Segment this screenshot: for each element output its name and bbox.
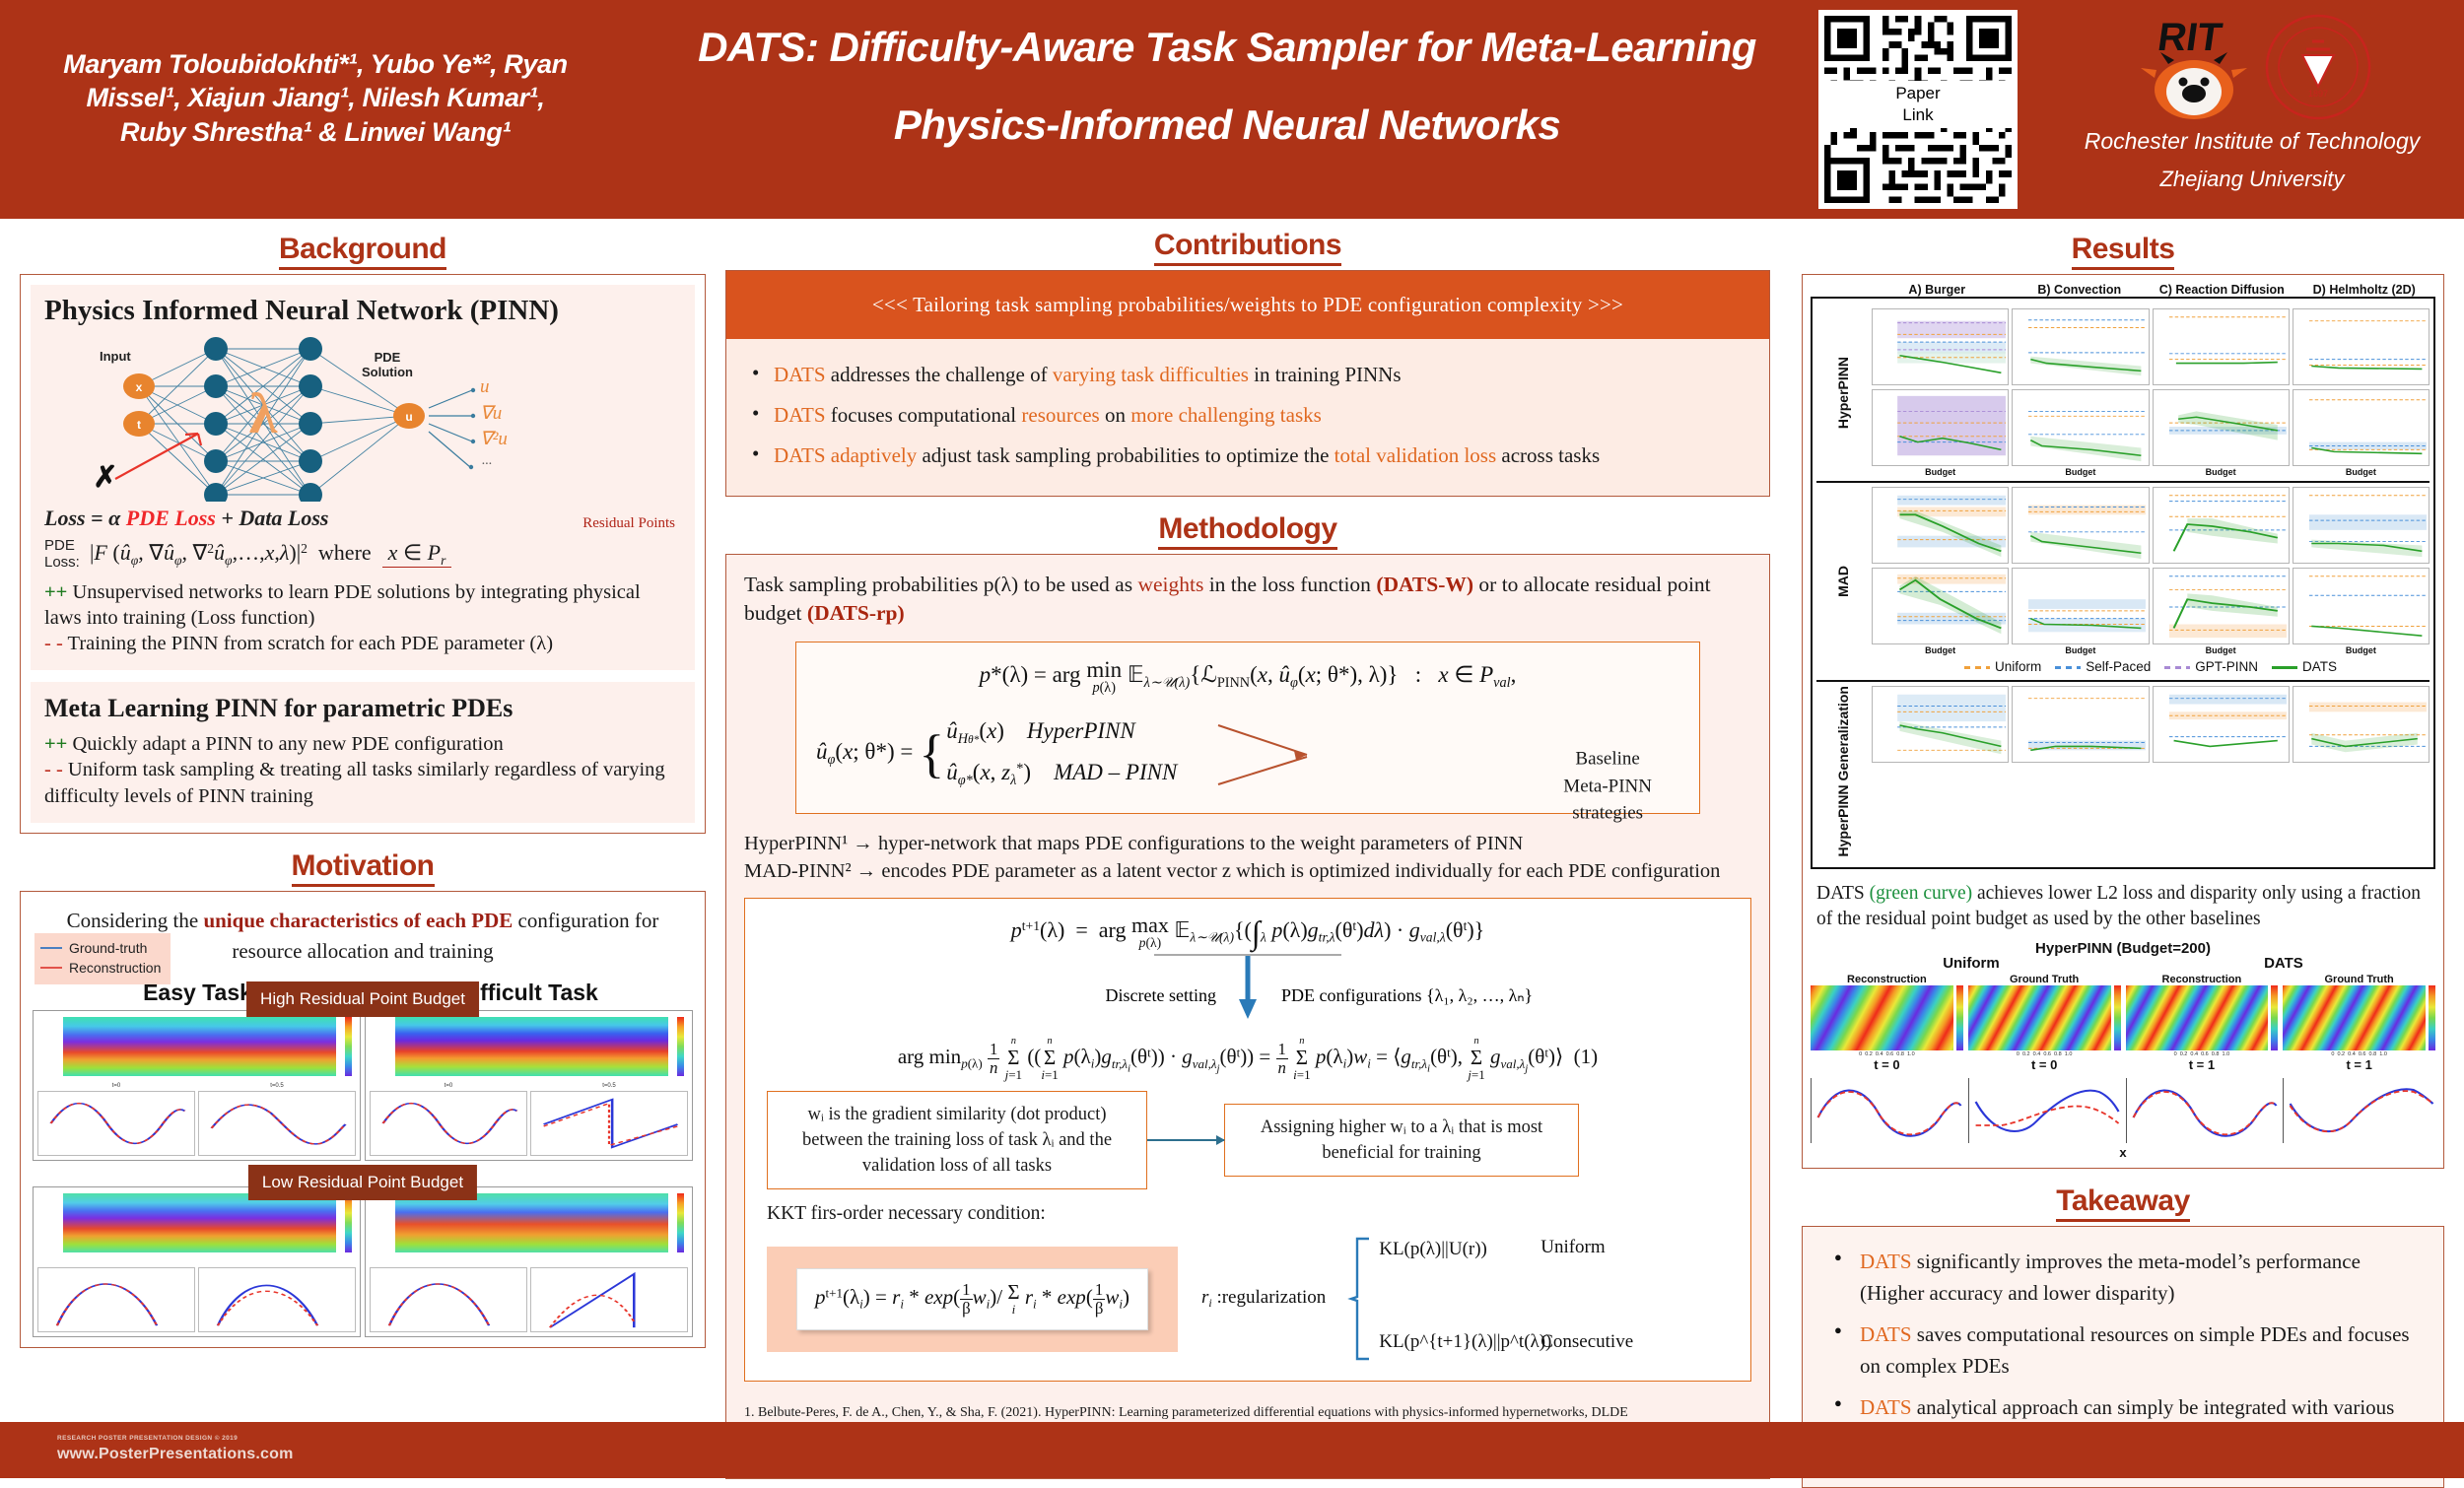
chart-hyperpinn-disp-helmholtz <box>2293 389 2430 466</box>
methodology-panel: Task sampling probabilities p(λ) to be u… <box>725 554 1770 1480</box>
chart-cell <box>2012 308 2149 385</box>
contribution-item-3: DATS adaptively adjust task sampling pro… <box>748 436 1747 476</box>
contribution-item-2: DATS focuses computational resources on … <box>748 395 1747 436</box>
contributions-body: DATS addresses the challenge of varying … <box>726 339 1769 496</box>
easy-task-low-budget-figure <box>33 1186 361 1337</box>
pinn-title: Physics Informed Neural Network (PINN) <box>44 295 681 327</box>
output-laplacian-u: ∇²u <box>480 428 508 450</box>
heatmap-easy-low <box>37 1191 356 1264</box>
qr-label: Paper Link <box>1824 81 2012 128</box>
heatmap-easy-high <box>37 1015 356 1088</box>
kkt-equation: pt+1(λi) = ri * exp(1βwi)/ Σi ri * exp(1… <box>796 1268 1148 1329</box>
chart-cell <box>2293 686 2430 763</box>
chart-cell: Budget <box>2293 568 2430 655</box>
results-column-headers: A) Burger B) Convection C) Reaction Diff… <box>1811 283 2435 297</box>
chart-cell: Disparity <box>1872 568 2009 655</box>
pde-loss-label: PDE Loss: <box>44 537 90 572</box>
cases-lhs: ûφ(x; θ*) = <box>816 739 913 769</box>
chart-gen-l2-helmholtz <box>2293 686 2430 763</box>
case-hyperpinn: ûHθ*(x) HyperPINN <box>946 712 1177 754</box>
meta-learning-subpanel: Meta Learning PINN for parametric PDEs +… <box>31 682 695 823</box>
chart-hyperpinn-l2-helmholtz <box>2293 308 2430 385</box>
xlabel-budget: Budget <box>1872 467 2009 477</box>
svg-text:✗: ✗ <box>93 461 117 494</box>
chart-cell <box>2012 487 2149 564</box>
meta-pros-cons: ++ Quickly adapt a PINN to any new PDE c… <box>44 731 681 809</box>
chart-hyperpinn-disp-reaction <box>2153 389 2290 466</box>
hp-time-0: t = 0 <box>1811 1057 1963 1072</box>
org-name-rit: Rochester Institute of Technology <box>2055 128 2449 155</box>
hp-heatmap-dats-recon <box>2126 985 2279 1050</box>
hp-label-dats: DATS <box>2264 955 2303 972</box>
hp-col-uniform-gt: Ground Truth 0 0.2 0.4 0.6 0.8 1.0 t = 0 <box>1968 974 2121 1143</box>
pinn-pro: Unsupervised networks to learn PDE solut… <box>44 581 641 629</box>
pinn-pros-cons: ++ Unsupervised networks to learn PDE so… <box>44 579 681 657</box>
org-name-zju: Zhejiang University <box>2055 167 2449 192</box>
hp-curve-dats-gt <box>2283 1078 2435 1143</box>
cases-brace: { <box>919 735 944 774</box>
w-explanation-row: wᵢ is the gradient similarity (dot produ… <box>767 1091 1729 1190</box>
hp-time-3: t = 1 <box>2283 1057 2435 1072</box>
hp-curve-dats-recon <box>2126 1078 2279 1143</box>
chart-cell <box>2293 308 2430 385</box>
results-col-reaction-diffusion: C) Reaction Diffusion <box>2151 283 2293 297</box>
chart-cell: L2 Loss <box>1872 487 2009 564</box>
hp-col-header: Reconstruction <box>1811 974 1963 985</box>
curve-easy-high-t0: t=0 <box>37 1091 195 1156</box>
output-u: u <box>480 376 490 398</box>
title-acronym: DATS: <box>698 24 818 70</box>
def-hyperpinn: HyperPINN¹ → hyper-network that maps PDE… <box>744 830 1751 857</box>
kkt-equation-row: pt+1(λi) = ri * exp(1βwi)/ Σi ri * exp(1… <box>767 1235 1729 1363</box>
hp-col-dats-recon: Reconstruction 0 0.2 0.4 0.6 0.8 1.0 t =… <box>2126 974 2279 1143</box>
chart-cell: Budget <box>2293 389 2430 477</box>
right-arrow-icon <box>1147 1139 1224 1141</box>
section-heading-takeaway: Takeaway <box>1802 1184 2444 1218</box>
footer-website-link[interactable]: www.PosterPresentations.com <box>57 1446 294 1463</box>
motivation-panel: Considering the unique characteristics o… <box>20 891 706 1348</box>
generalization-l2loss-row: L2 Loss <box>1872 686 2430 763</box>
baseline-note: Baseline Meta-PINN strategies <box>1563 746 1652 828</box>
svg-text:u: u <box>405 410 412 424</box>
motivation-legend: Ground-truth Reconstruction <box>34 933 171 984</box>
chip-high-residual-budget: High Residual Point Budget <box>246 981 479 1017</box>
easy-task-high-budget-figure: t=0 t=0.5 <box>33 1010 361 1161</box>
xlabel-budget: Budget <box>1872 645 2009 655</box>
high-budget-figure-row: t=0 t=0.5 <box>33 1010 693 1161</box>
pinn-subpanel: Physics Informed Neural Network (PINN) <box>31 285 695 670</box>
heatmap-difficult-high <box>370 1015 688 1088</box>
section-heading-background: Background <box>20 233 706 266</box>
takeaway-item-1: DATS significantly improves the meta-mod… <box>1828 1247 2418 1310</box>
results-col-helmholtz: D) Helmholtz (2D) <box>2293 283 2436 297</box>
xlabel-budget: Budget <box>2293 467 2430 477</box>
results-legend: Uniform Self-Paced GPT-PINN DATS <box>1872 659 2430 674</box>
poster-header: Maryam Toloubidokhti*¹, Yubo Ye*², Ryan … <box>0 0 2464 219</box>
contribution-item-1: DATS addresses the challenge of varying … <box>748 355 1747 395</box>
mad-disparity-row: Disparity <box>1872 568 2430 655</box>
hp-heatmap-uniform-recon <box>1811 985 1963 1050</box>
cases-list: ûHθ*(x) HyperPINN ûφ*(x, zλ*) MAD – PINN <box>946 712 1177 795</box>
heatmap-difficult-low <box>370 1191 688 1264</box>
chart-cell <box>2012 686 2149 763</box>
output-grad-u: ∇u <box>480 402 502 425</box>
group-label-mad: MAD <box>1836 566 1851 597</box>
methodology-definitions: HyperPINN¹ → hyper-network that maps PDE… <box>744 830 1751 886</box>
curve-easy-high-t05: t=0.5 <box>198 1091 356 1156</box>
chart-mad-disp-convection <box>2012 568 2149 644</box>
hp-heatmap-uniform-gt <box>1968 985 2121 1050</box>
kl-uniform-tag: Uniform <box>1540 1237 1605 1258</box>
input-label: Input <box>100 349 131 364</box>
results-col-burger: A) Burger <box>1866 283 2009 297</box>
title-line-2: Physics-Informed Neural Networks <box>690 94 1764 156</box>
chart-mad-l2-burger <box>1872 487 2009 564</box>
hp-label-uniform: Uniform <box>1943 955 2000 972</box>
results-group-mad: MAD L2 Loss <box>1816 481 2430 680</box>
hp-heatmap-columns: Reconstruction 0 0.2 0.4 0.6 0.8 1.0 t =… <box>1811 974 2435 1143</box>
qr-canvas: Paper Link <box>1824 16 2012 203</box>
down-arrow-icon <box>1236 956 1260 1021</box>
xlabel-budget: Budget <box>2012 645 2149 655</box>
chart-gen-l2-reaction <box>2153 686 2290 763</box>
rit-tiger-logo-icon: RIT <box>2131 9 2257 125</box>
curve-easy-low-t0 <box>37 1267 195 1332</box>
contributions-list: DATS addresses the challenge of varying … <box>748 355 1747 476</box>
chart-mad-disp-burger <box>1872 568 2009 644</box>
right-column: Results A) Burger B) Convection C) React… <box>1802 233 2444 1488</box>
chart-gen-l2-burger <box>1872 686 2009 763</box>
residual-points-label: Residual Points <box>582 515 675 532</box>
chart-cell: Budget <box>2012 568 2149 655</box>
methodology-intro: Task sampling probabilities p(λ) to be u… <box>744 571 1751 628</box>
pde-solution-label: PDE Solution <box>362 351 413 380</box>
hp-col-uniform-recon: Reconstruction 0 0.2 0.4 0.6 0.8 1.0 t =… <box>1811 974 1963 1143</box>
chart-gen-l2-convection <box>2012 686 2149 763</box>
author-list: Maryam Toloubidokhti*¹, Yubo Ye*², Ryan … <box>59 47 572 149</box>
group-label-hyperpinn: HyperPINN <box>1836 357 1851 429</box>
results-chart-grid: HyperPINN L2 Loss <box>1811 297 2435 869</box>
hp-col-header: Reconstruction <box>2126 974 2279 985</box>
chart-cell <box>2153 308 2290 385</box>
xlabel-budget: Budget <box>2012 467 2149 477</box>
paper-link-qr-code[interactable]: Paper Link <box>1818 10 2018 209</box>
pde-loss-equation: |F (ûφ, ∇ûφ, ∇2ûφ,…,x,λ)|2 where x ∈ Pr <box>90 540 451 569</box>
discrete-setting-label: Discrete setting <box>1106 985 1216 1006</box>
footer-credit-small: RESEARCH POSTER PRESENTATION DESIGN © 20… <box>57 1435 238 1442</box>
equation-box-objective: p*(λ) = arg minp(λ) 𝔼λ∼𝒰(λ){ℒPINN(x, ûφ(… <box>795 642 1700 814</box>
mad-l2loss-row: L2 Loss <box>1872 487 2430 564</box>
equation-p-star: p*(λ) = arg minp(λ) 𝔼λ∼𝒰(λ){ℒPINN(x, ûφ(… <box>816 658 1679 695</box>
hyperpinn-disparity-row: Disparity <box>1872 389 2430 477</box>
results-col-convection: B) Convection <box>2009 283 2152 297</box>
poster-title: DATS: Difficulty-Aware Task Sampler for … <box>690 16 1764 156</box>
curve-easy-low-t05 <box>198 1267 356 1332</box>
chart-hyperpinn-disp-convection <box>2012 389 2149 466</box>
results-group-hyperpinn-generalization: HyperPINN Generalization L2 Loss <box>1816 680 2430 861</box>
legend-self-paced: Self-Paced <box>2055 659 2151 674</box>
w-definition-box: wᵢ is the gradient similarity (dot produ… <box>767 1091 1147 1190</box>
chart-cell: Budget <box>2153 389 2290 477</box>
poster-footer: RESEARCH POSTER PRESENTATION DESIGN © 20… <box>0 1422 2464 1478</box>
hyperpinn-l2loss-row: L2 Loss <box>1872 308 2430 385</box>
svg-text:λ: λ <box>249 381 278 445</box>
hp-time-1: t = 0 <box>1968 1057 2121 1072</box>
institution-logos: RIT 1897 Rochester Inst <box>2055 8 2449 192</box>
chart-mad-l2-convection <box>2012 487 2149 564</box>
difficult-task-low-budget-figure <box>365 1186 693 1337</box>
kkt-label: KKT firs-order necessary condition: <box>767 1203 1729 1225</box>
equation-cases-row: ûφ(x; θ*) = { ûHθ*(x) HyperPINN ûφ*(x, z… <box>816 712 1679 795</box>
xlabel-budget: Budget <box>2153 645 2290 655</box>
svg-text:x: x <box>136 380 143 394</box>
equation-box-derivation: pt+1(λ) = arg maxp(λ) 𝔼λ∼𝒰(λ){(∫λ p(λ)gt… <box>744 898 1751 1383</box>
legend-reconstruction: Reconstruction <box>69 958 161 978</box>
difficult-task-high-budget-figure: t=0 t=0.5 <box>365 1010 693 1161</box>
pde-loss-equation-row: PDE Loss: |F (ûφ, ∇ûφ, ∇2ûφ,…,x,λ)|2 whe… <box>44 537 681 572</box>
kl-regularizer-group: KL(p(λ)||U(r)) Uniform KL(p^{t+1}(λ)||p^… <box>1347 1235 1673 1363</box>
chart-hyperpinn-l2-burger <box>1872 308 2009 385</box>
legend-uniform: Uniform <box>1964 659 2041 674</box>
hp-time-2: t = 1 <box>2126 1057 2279 1072</box>
curve-difficult-high-t05: t=0.5 <box>530 1091 688 1156</box>
left-column: Background Physics Informed Neural Netwo… <box>20 233 706 1348</box>
equation-argmin-expanded: arg minp(λ) 1n nΣj=1 ((nΣi=1 p(λi)gtr,λi… <box>767 1037 1729 1081</box>
meta-con: Uniform task sampling & treating all tas… <box>44 759 665 806</box>
low-budget-figure-row: Low Residual Point Budget <box>33 1186 693 1337</box>
pinn-con: Training the PINN from scratch for each … <box>68 633 553 654</box>
def-mad-pinn: MAD-PINN² → encodes PDE parameter as a l… <box>744 857 1751 885</box>
contributions-panel: <<< Tailoring task sampling probabilitie… <box>725 270 1770 497</box>
chart-cell: Disparity <box>1872 389 2009 477</box>
group-label-hyperpinn-generalization: HyperPINN Generalization <box>1836 686 1851 857</box>
chart-hyperpinn-l2-reaction <box>2153 308 2290 385</box>
meta-learning-title: Meta Learning PINN for parametric PDEs <box>44 694 681 723</box>
equation-p-t-plus-1: pt+1(λ) = arg maxp(λ) 𝔼λ∼𝒰(λ){(∫λ p(λ)gt… <box>767 914 1729 952</box>
background-panel: Physics Informed Neural Network (PINN) <box>20 274 706 834</box>
chart-cell <box>2293 487 2430 564</box>
takeaway-item-2: DATS saves computational resources on si… <box>1828 1319 2418 1383</box>
section-heading-contributions: Contributions <box>725 229 1770 262</box>
chart-cell: Budget <box>2012 389 2149 477</box>
chip-low-residual-budget: Low Residual Point Budget <box>248 1165 477 1200</box>
hp-curve-uniform-recon <box>1811 1078 1963 1143</box>
hp-col-header: Ground Truth <box>1968 974 2121 985</box>
xlabel-budget: Budget <box>2293 645 2430 655</box>
hp-heatmap-dats-gt <box>2283 985 2435 1050</box>
legend-gpt-pinn: GPT-PINN <box>2164 659 2258 674</box>
discrete-setting-row: Discrete setting PDE configurations {λ₁,… <box>767 954 1729 1037</box>
section-heading-motivation: Motivation <box>20 849 706 883</box>
chart-cell: Budget <box>2153 568 2290 655</box>
baseline-arrow-icon <box>1212 715 1360 792</box>
svg-text:1897: 1897 <box>2308 89 2328 99</box>
section-heading-results: Results <box>1802 233 2444 266</box>
zhejiang-university-logo-icon: 1897 <box>2263 12 2373 122</box>
pde-configurations-label: PDE configurations {λ₁, λ₂, …, λₙ} <box>1281 985 1533 1006</box>
middle-column: Contributions <<< Tailoring task samplin… <box>725 229 1770 1479</box>
hp-curve-uniform-gt <box>1968 1078 2121 1143</box>
chart-hyperpinn-disp-burger <box>1872 389 2009 466</box>
kl-consecutive-tag: Consecutive <box>1540 1331 1633 1353</box>
curve-difficult-low-t0 <box>370 1267 527 1332</box>
svg-text:t: t <box>137 418 141 432</box>
legend-ground-truth: Ground-truth <box>69 938 147 958</box>
regularization-label: ri :regularization <box>1201 1287 1326 1311</box>
hyperpinn-budget-figure: HyperPINN (Budget=200) Uniform DATS Reco… <box>1811 940 2435 1160</box>
curly-brace-icon <box>1347 1235 1373 1363</box>
results-group-hyperpinn: HyperPINN L2 Loss <box>1816 304 2430 481</box>
chart-cell <box>2153 686 2290 763</box>
case-mad-pinn: ûφ*(x, zλ*) MAD – PINN <box>946 754 1177 795</box>
curve-difficult-low-t05 <box>530 1267 688 1332</box>
contributions-banner: <<< Tailoring task sampling probabilitie… <box>726 271 1769 339</box>
hp-xaxis-label: x <box>1811 1145 2435 1160</box>
hp-col-header: Ground Truth <box>2283 974 2435 985</box>
output-ellipsis: ... <box>482 453 493 469</box>
chart-mad-l2-reaction <box>2153 487 2290 564</box>
chart-mad-disp-reaction <box>2153 568 2290 644</box>
kl-consecutive-equation: KL(p^{t+1}(λ)||p^t(λ)) <box>1379 1331 1551 1353</box>
chart-mad-l2-helmholtz <box>2293 487 2430 564</box>
curve-difficult-high-t0: t=0 <box>370 1091 527 1156</box>
chart-mad-disp-helmholtz <box>2293 568 2430 644</box>
results-panel: A) Burger B) Convection C) Reaction Diff… <box>1802 274 2444 1169</box>
results-caption: DATS (green curve) achieves lower L2 los… <box>1816 881 2430 933</box>
meta-pro: Quickly adapt a PINN to any new PDE conf… <box>73 733 504 755</box>
chart-cell <box>2153 487 2290 564</box>
svg-text:RIT: RIT <box>2156 15 2225 59</box>
xlabel-budget: Budget <box>2153 467 2290 477</box>
w-assignment-box: Assigning higher wᵢ to a λᵢ that is most… <box>1224 1104 1579 1178</box>
hp-method-labels: Uniform DATS <box>1811 955 2435 972</box>
legend-dats: DATS <box>2272 659 2337 674</box>
kkt-highlight: pt+1(λi) = ri * exp(1βwi)/ Σi ri * exp(1… <box>767 1247 1178 1351</box>
section-heading-methodology: Methodology <box>725 512 1770 546</box>
hp-col-dats-gt: Ground Truth 0 0.2 0.4 0.6 0.8 1.0 t = 1 <box>2283 974 2435 1143</box>
chart-hyperpinn-l2-convection <box>2012 308 2149 385</box>
pinn-architecture-diagram: x t u λ ✗ <box>78 329 630 502</box>
kl-uniform-equation: KL(p(λ)||U(r)) <box>1379 1239 1487 1260</box>
title-line-1: Difficulty-Aware Task Sampler for Meta-L… <box>818 24 1755 70</box>
chart-cell: L2 Loss <box>1872 308 2009 385</box>
chart-cell: L2 Loss <box>1872 686 2009 763</box>
